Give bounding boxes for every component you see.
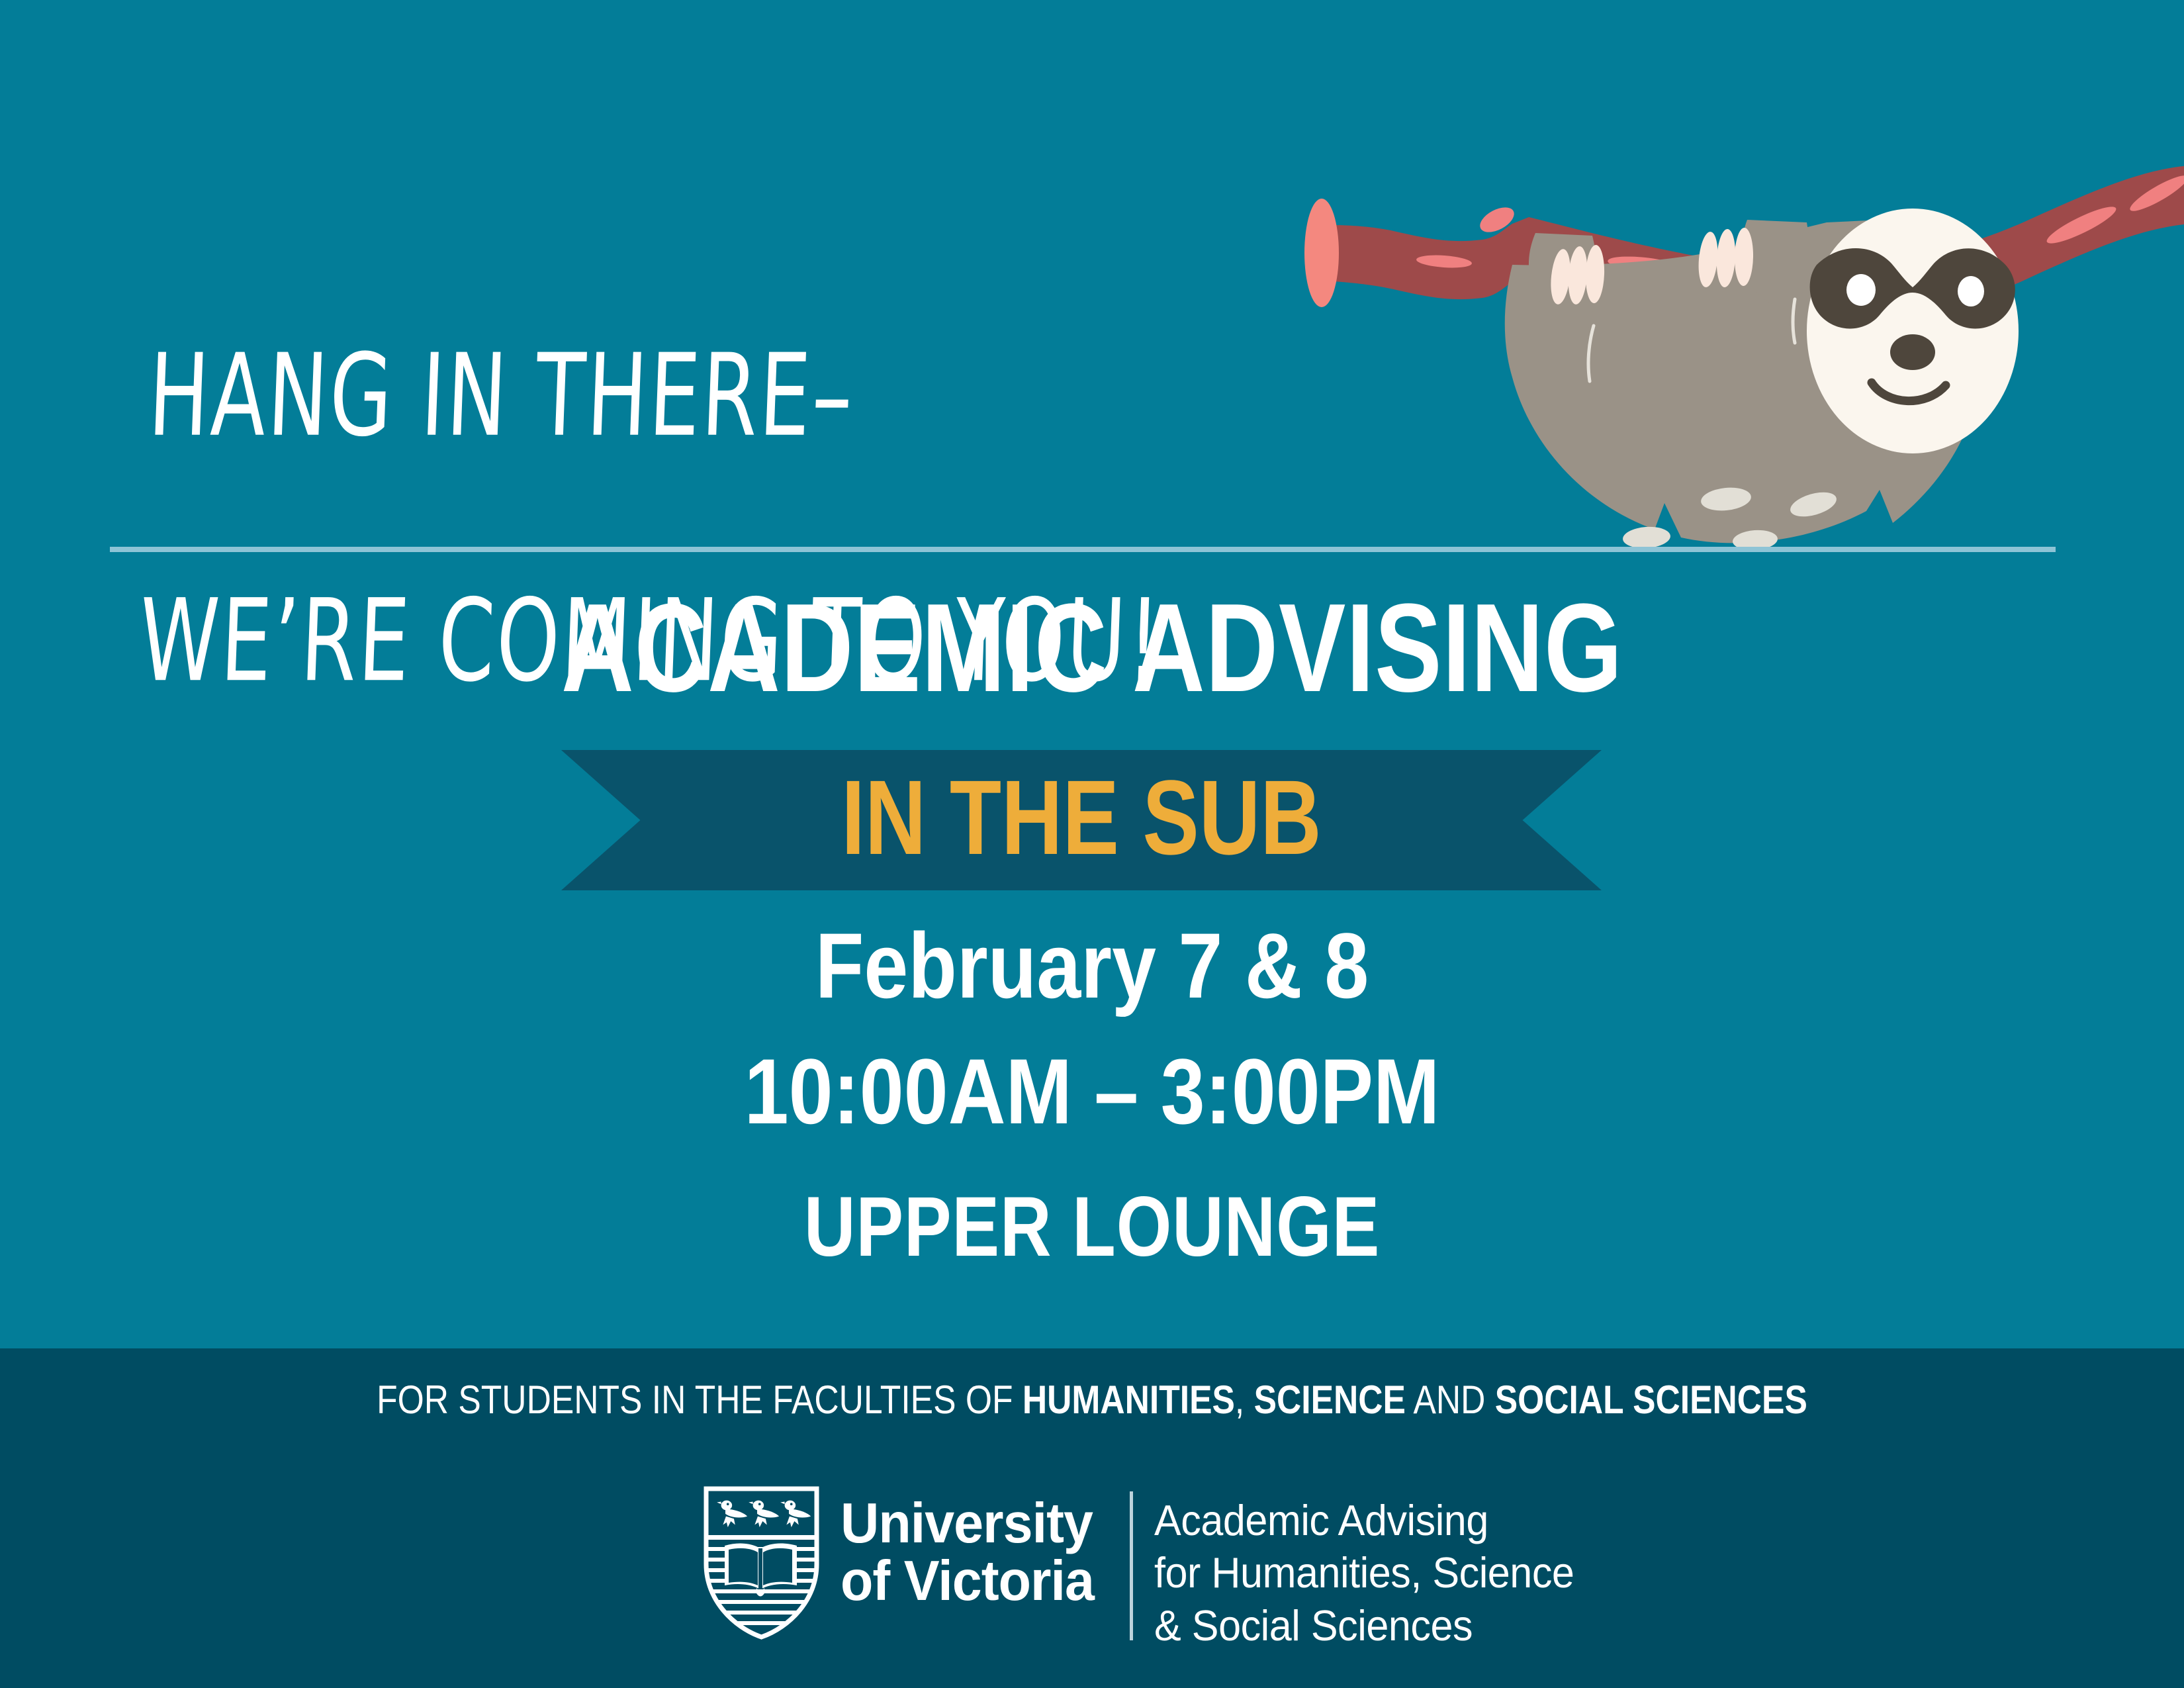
- poster-canvas: HANG IN THERE– WE’RE COMING TO YOU! ACAD…: [0, 0, 2184, 1688]
- audience-separator-2: AND: [1406, 1378, 1495, 1422]
- wordmark-line-1: University: [841, 1495, 1094, 1553]
- headline-line-1: HANG IN THERE–: [146, 334, 1186, 457]
- page-headline: HANG IN THERE– WE’RE COMING TO YOU!: [133, 212, 1191, 825]
- event-date: February 7 & 8: [153, 912, 2031, 1019]
- audience-faculty-social-sciences: SOCIAL SCIENCES: [1495, 1378, 1807, 1422]
- horizontal-divider: [110, 547, 2056, 552]
- ribbon-label: IN THE SUB: [665, 750, 1498, 890]
- wordmark-line-2: of Victoria: [841, 1553, 1094, 1611]
- audience-line: FOR STUDENTS IN THE FACULTIES OF HUMANIT…: [153, 1377, 2031, 1423]
- uvic-logo-lockup: University of Victoria Academic Advising…: [704, 1486, 1601, 1652]
- open-book-glyph: [725, 1544, 797, 1597]
- audience-prefix: FOR STUDENTS IN THE FACULTIES OF: [377, 1378, 1023, 1422]
- audience-faculty-science: SCIENCE: [1254, 1378, 1406, 1422]
- audience-faculty-humanities: HUMANITIES: [1023, 1378, 1235, 1422]
- uvic-wordmark: University of Victoria: [841, 1486, 1094, 1610]
- event-time: 10:00AM – 3:00PM: [153, 1038, 2031, 1145]
- lockup-vertical-rule: [1130, 1491, 1133, 1640]
- event-location: UPPER LOUNGE: [175, 1178, 2009, 1276]
- unit-line-1: Academic Advising: [1154, 1494, 1574, 1546]
- unit-line-3: & Social Sciences: [1154, 1599, 1574, 1652]
- unit-line-2: for Humanities, Science: [1154, 1546, 1574, 1599]
- page-title: ACADEMIC ADVISING: [218, 576, 1966, 720]
- audience-separator-1: ,: [1235, 1378, 1254, 1422]
- unit-name: Academic Advising for Humanities, Scienc…: [1154, 1486, 1574, 1652]
- ribbon-banner: IN THE SUB: [561, 750, 1602, 890]
- uvic-crest-icon: [704, 1486, 819, 1640]
